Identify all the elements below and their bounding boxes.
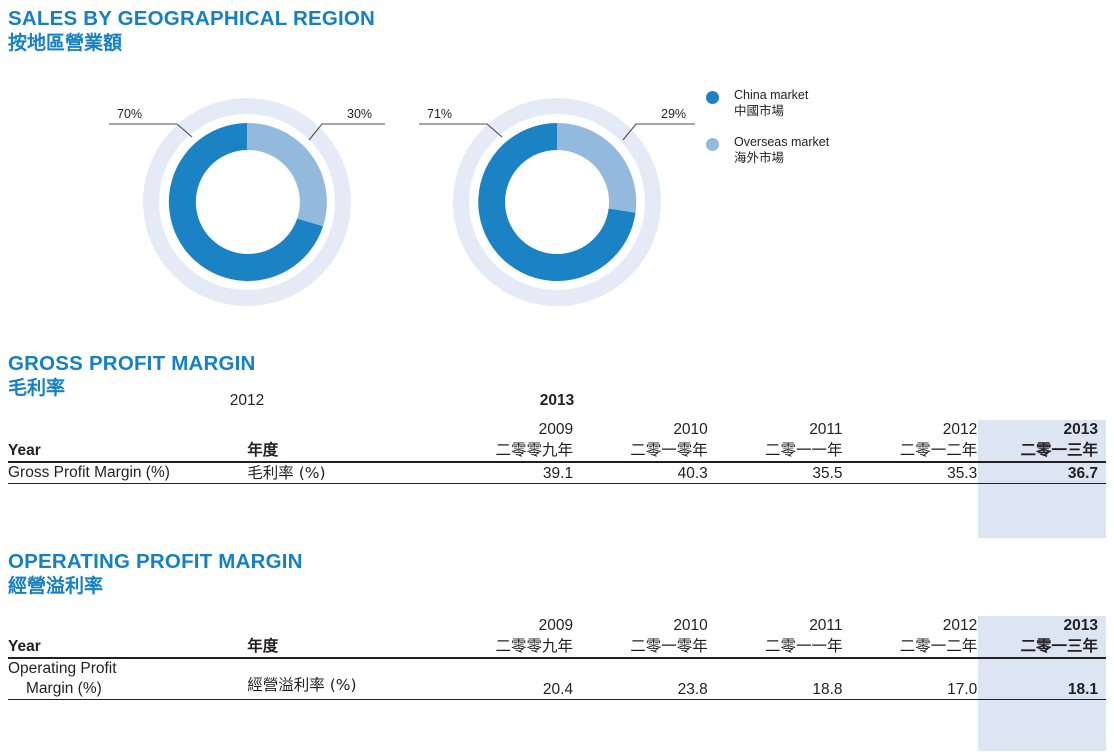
operating-value-2009: 20.4: [438, 658, 573, 699]
gross-rule-cell: [708, 483, 843, 484]
operating-profit-margin-table: Year 年度 2009 二零零九年 2010 二零一零年 2011 二零一一年…: [8, 616, 1106, 700]
gross-heading-zh: 毛利率: [8, 376, 256, 400]
gross-value-2012: 35.3: [843, 462, 978, 483]
gross-value-2010: 40.3: [573, 462, 708, 483]
gross-header-year-zh-text: 年度: [247, 441, 278, 459]
operating-year-2013-zh: 二零一三年: [977, 636, 1098, 657]
operating-rule-cell: [977, 699, 1106, 700]
gross-year-2010: 2010: [673, 421, 707, 438]
gross-header-year-en-text: Year: [8, 442, 41, 459]
gross-year-2013-zh: 二零一三年: [977, 440, 1098, 461]
operating-value-2010: 23.8: [573, 658, 708, 699]
gross-col-header-2013: 2013 二零一三年: [977, 420, 1106, 461]
legend-item-china: China market 中國市場: [706, 88, 956, 119]
operating-col-header-2013: 2013 二零一三年: [977, 616, 1106, 657]
donut-chart-2012: 70% 30% 2012: [97, 68, 397, 353]
gross-rule-cell: [438, 483, 573, 484]
gross-col-header-2009: 2009 二零零九年: [438, 420, 573, 461]
sales-heading-en: SALES BY GEOGRAPHICAL REGION: [8, 6, 375, 31]
gross-bottom-rule: [8, 483, 1106, 484]
gross-rule-cell: [573, 483, 708, 484]
operating-row-label-zh: 經營溢利率 (%): [247, 658, 438, 699]
operating-heading-zh: 經營溢利率: [8, 574, 303, 598]
operating-bottom-rule: [8, 699, 1106, 700]
operating-year-2012-zh: 二零一二年: [843, 636, 978, 657]
legend-dot-icon-china: [706, 91, 719, 104]
operating-col-header-2009: 2009 二零零九年: [438, 616, 573, 657]
operating-year-2012: 2012: [943, 617, 977, 634]
gross-row-label-zh: 毛利率 (%): [247, 462, 438, 483]
operating-year-2011-zh: 二零一一年: [708, 636, 843, 657]
operating-header-row: Year 年度 2009 二零零九年 2010 二零一零年 2011 二零一一年…: [8, 616, 1106, 657]
legend-label-en-overseas: Overseas market: [734, 135, 956, 150]
donut-2013-label-overseas: 29%: [661, 107, 686, 121]
gross-header-year-en: Year: [8, 420, 247, 461]
operating-rule-cell: [843, 699, 978, 700]
operating-heading-en: OPERATING PROFIT MARGIN: [8, 549, 303, 574]
table-row: Operating Profit Margin (%) 經營溢利率 (%) 20…: [8, 658, 1106, 699]
donut-2012-label-china: 70%: [117, 107, 142, 121]
gross-value-2009: 39.1: [438, 462, 573, 483]
gross-year-2011-zh: 二零一一年: [708, 440, 843, 461]
operating-rule-cell: [8, 699, 247, 700]
gross-year-2012: 2012: [943, 421, 977, 438]
gross-heading-en: GROSS PROFIT MARGIN: [8, 351, 256, 376]
gross-rule-cell: [843, 483, 978, 484]
gross-section-heading: GROSS PROFIT MARGIN 毛利率: [8, 351, 256, 400]
operating-value-2012: 17.0: [843, 658, 978, 699]
operating-year-2010-zh: 二零一零年: [573, 636, 708, 657]
gross-profit-margin-table-wrap: Year 年度 2009 二零零九年 2010 二零一零年 2011 二零一一年…: [8, 420, 1106, 484]
gross-col-header-2010: 2010 二零一零年: [573, 420, 708, 461]
gross-profit-margin-table: Year 年度 2009 二零零九年 2010 二零一零年 2011 二零一一年…: [8, 420, 1106, 484]
operating-rule-cell: [247, 699, 438, 700]
table-row: Gross Profit Margin (%) 毛利率 (%) 39.1 40.…: [8, 462, 1106, 483]
operating-header-year-en: Year: [8, 616, 247, 657]
gross-rule-cell: [977, 483, 1106, 484]
donut-2013-year: 2013: [407, 392, 707, 410]
operating-col-header-2011: 2011 二零一一年: [708, 616, 843, 657]
operating-row-label-en-line1: Operating Profit: [8, 660, 117, 677]
gross-year-2012-zh: 二零一二年: [843, 440, 978, 461]
gross-year-2009-zh: 二零零九年: [438, 440, 573, 461]
gross-value-2013: 36.7: [977, 462, 1106, 483]
operating-value-2011: 18.8: [708, 658, 843, 699]
gross-col-header-2012: 2012 二零一二年: [843, 420, 978, 461]
gross-year-2010-zh: 二零一零年: [573, 440, 708, 461]
operating-year-2011: 2011: [809, 617, 842, 634]
operating-col-header-2010: 2010 二零一零年: [573, 616, 708, 657]
donut-2013-label-china: 71%: [427, 107, 452, 121]
gross-value-2011: 35.5: [708, 462, 843, 483]
operating-header-year-en-text: Year: [8, 638, 41, 655]
sales-heading-zh: 按地區營業額: [8, 31, 375, 55]
chart-legend: China market 中國市場 Overseas market 海外市場: [706, 88, 956, 182]
operating-year-2013: 2013: [1064, 617, 1098, 634]
legend-item-overseas: Overseas market 海外市場: [706, 135, 956, 166]
operating-year-2009: 2009: [539, 617, 573, 634]
gross-header-row: Year 年度 2009 二零零九年 2010 二零一零年 2011 二零一一年…: [8, 420, 1106, 461]
operating-rule-cell: [438, 699, 573, 700]
legend-dot-icon-overseas: [706, 138, 719, 151]
donut-chart-2013: 71% 29% 2013: [407, 68, 707, 353]
operating-rule-cell: [573, 699, 708, 700]
gross-year-2013: 2013: [1064, 421, 1098, 438]
gross-rule-cell: [8, 483, 247, 484]
operating-header-year-zh-text: 年度: [247, 637, 278, 655]
operating-profit-margin-table-wrap: Year 年度 2009 二零零九年 2010 二零一零年 2011 二零一一年…: [8, 616, 1106, 700]
sales-section-heading: SALES BY GEOGRAPHICAL REGION 按地區營業額: [8, 6, 375, 55]
operating-row-label-en-line2: Margin (%): [8, 679, 247, 699]
operating-section-heading: OPERATING PROFIT MARGIN 經營溢利率: [8, 549, 303, 598]
operating-header-year-zh: 年度: [247, 616, 438, 657]
legend-label-zh-china: 中國市場: [734, 103, 956, 119]
gross-rule-cell: [247, 483, 438, 484]
gross-year-2009: 2009: [539, 421, 573, 438]
donut-2012-label-overseas: 30%: [347, 107, 372, 121]
operating-row-label-en: Operating Profit Margin (%): [8, 658, 247, 699]
operating-value-2013: 18.1: [977, 658, 1106, 699]
gross-year-2011: 2011: [809, 421, 842, 438]
gross-col-header-2011: 2011 二零一一年: [708, 420, 843, 461]
operating-col-header-2012: 2012 二零一二年: [843, 616, 978, 657]
operating-rule-cell: [708, 699, 843, 700]
operating-year-2009-zh: 二零零九年: [438, 636, 573, 657]
legend-label-en-china: China market: [734, 88, 956, 103]
operating-year-2010: 2010: [673, 617, 707, 634]
gross-header-year-zh: 年度: [247, 420, 438, 461]
legend-label-zh-overseas: 海外市場: [734, 150, 956, 166]
gross-row-label-en: Gross Profit Margin (%): [8, 462, 247, 483]
